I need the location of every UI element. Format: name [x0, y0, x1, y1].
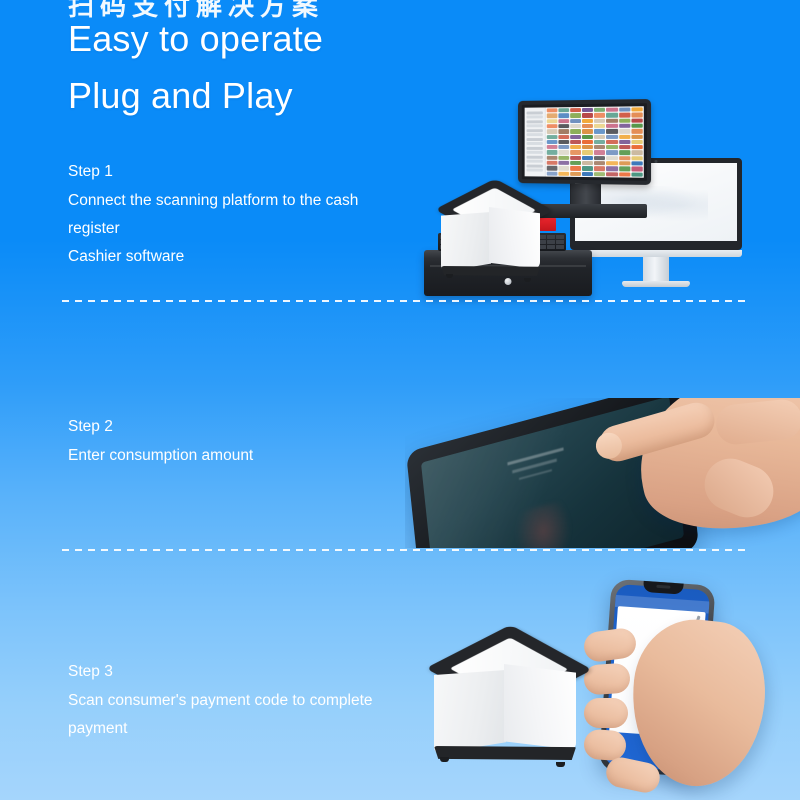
step-2-text-block: Step 2 Enter consumption amount [68, 415, 253, 470]
step-1-desc-line2: register [68, 215, 358, 243]
page-title-line1: Easy to operate [68, 18, 323, 60]
pos-product-grid [545, 106, 643, 177]
product-marketing-page: 扫码支付解决方案 Easy to operate Plug and Play S… [0, 0, 800, 800]
step-1-desc-line3: Cashier software [68, 243, 358, 271]
scanner-body-left [441, 212, 491, 272]
scanner-base [434, 746, 576, 760]
step-1-label: Step 1 [68, 160, 358, 184]
scanner-foot-right [556, 762, 565, 767]
scanner-body-right [489, 207, 540, 269]
hand-icon [588, 614, 764, 800]
hand-finger-3 [584, 698, 628, 728]
tablet-screen-content [508, 446, 573, 493]
step-3-label: Step 3 [68, 660, 373, 684]
hand-icon [580, 398, 800, 548]
qr-scanner-cube-icon [438, 172, 550, 290]
step-1-description: Connect the scanning platform to the cas… [68, 187, 358, 271]
pos-software-ui [525, 106, 644, 177]
scanner-body-left [434, 670, 506, 754]
scanner-base [441, 266, 540, 276]
hand-finger-1 [582, 627, 638, 664]
step-2-desc-line1: Enter consumption amount [68, 442, 253, 470]
scanner-foot-left [446, 274, 453, 278]
step-3-desc-line1: Scan consumer's payment code to complete [68, 687, 373, 715]
section-divider-2 [62, 549, 747, 551]
section-divider-1 [62, 300, 747, 302]
step-1-desc-line1: Connect the scanning platform to the cas… [68, 187, 358, 215]
pos-sidebar [525, 107, 546, 176]
step-2-image [405, 398, 800, 548]
hand-finger-2 [583, 662, 631, 695]
step-3-description: Scan consumer's payment code to complete… [68, 687, 373, 743]
step-1-image [430, 100, 730, 295]
monitor-stand-foot [622, 281, 690, 287]
tablet-finger-reflection [513, 498, 576, 548]
monitor-stand-neck [643, 257, 669, 281]
step-3-image [420, 570, 800, 800]
step-1-text-block: Step 1 Connect the scanning platform to … [68, 160, 358, 271]
monitor-chin [570, 250, 742, 257]
page-title-line2: Plug and Play [68, 75, 293, 117]
scanner-foot-left [440, 757, 449, 762]
scanner-body-right [504, 664, 576, 750]
step-3-desc-line2: payment [68, 715, 373, 743]
step-2-label: Step 2 [68, 415, 253, 439]
scanner-foot-right [524, 278, 531, 282]
step-3-text-block: Step 3 Scan consumer's payment code to c… [68, 660, 373, 743]
qr-scanner-cube-icon [430, 616, 590, 776]
pos-stand-neck [571, 184, 601, 204]
step-2-description: Enter consumption amount [68, 442, 253, 470]
